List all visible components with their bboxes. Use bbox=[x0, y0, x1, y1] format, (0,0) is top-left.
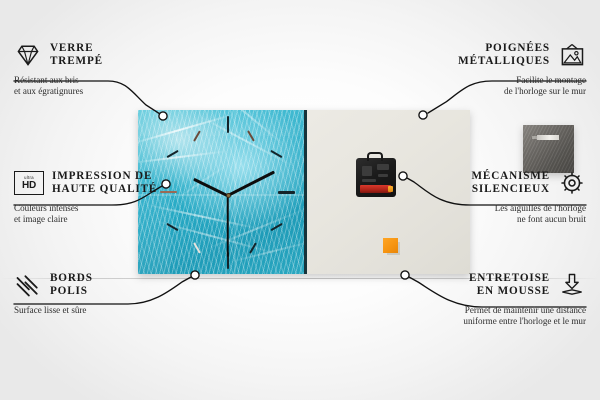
picture-frame-icon bbox=[558, 42, 586, 68]
feature-title: POIGNÉES MÉTALLIQUES bbox=[458, 42, 550, 69]
feature-title: BORDS POLIS bbox=[50, 272, 93, 299]
feature-verre-trempe: VERRE TREMPÉ Résistant aux bris et aux é… bbox=[14, 42, 199, 97]
feature-subtitle: Permet de maintenir une distance uniform… bbox=[376, 305, 586, 327]
connector-dot-verre-trempe bbox=[159, 112, 167, 120]
feature-title: IMPRESSION DE HAUTE QUALITÉ bbox=[52, 170, 157, 197]
feature-subtitle: Surface lisse et sûre bbox=[14, 305, 199, 316]
feature-impression-haute-qualite: ultra HD IMPRESSION DE HAUTE QUALITÉ Cou… bbox=[14, 170, 204, 225]
feature-subtitle: Résistant aux bris et aux égratignures bbox=[14, 75, 199, 97]
feature-poignees-metalliques: POIGNÉES MÉTALLIQUES Facilite le montage… bbox=[386, 42, 586, 97]
feature-subtitle: Couleurs intenses et image claire bbox=[14, 203, 204, 225]
feature-subtitle: Facilite le montage de l'horloge sur le … bbox=[386, 75, 586, 97]
diamond-icon bbox=[14, 42, 42, 68]
ultra-hd-badge-icon: ultra HD bbox=[14, 171, 44, 195]
feature-title: MÉCANISME SILENCIEUX bbox=[471, 170, 550, 197]
connector-dot-poignees bbox=[419, 111, 427, 119]
feature-title: VERRE TREMPÉ bbox=[50, 42, 103, 69]
feature-bords-polis: BORDS POLIS Surface lisse et sûre bbox=[14, 272, 199, 316]
gear-icon bbox=[558, 170, 586, 196]
feature-subtitle: Les aiguilles de l'horloge ne font aucun… bbox=[386, 203, 586, 225]
diagonal-lines-icon bbox=[14, 272, 42, 298]
ultra-hd-badge-main: HD bbox=[22, 181, 36, 191]
infographic-canvas: VERRE TREMPÉ Résistant aux bris et aux é… bbox=[0, 0, 600, 400]
down-arrow-stack-icon bbox=[558, 272, 586, 298]
feature-title: ENTRETOISE EN MOUSSE bbox=[469, 272, 550, 299]
feature-mecanisme-silencieux: MÉCANISME SILENCIEUX Les aiguilles de l'… bbox=[386, 170, 586, 225]
feature-entretoise-en-mousse: ENTRETOISE EN MOUSSE Permet de maintenir… bbox=[376, 272, 586, 327]
